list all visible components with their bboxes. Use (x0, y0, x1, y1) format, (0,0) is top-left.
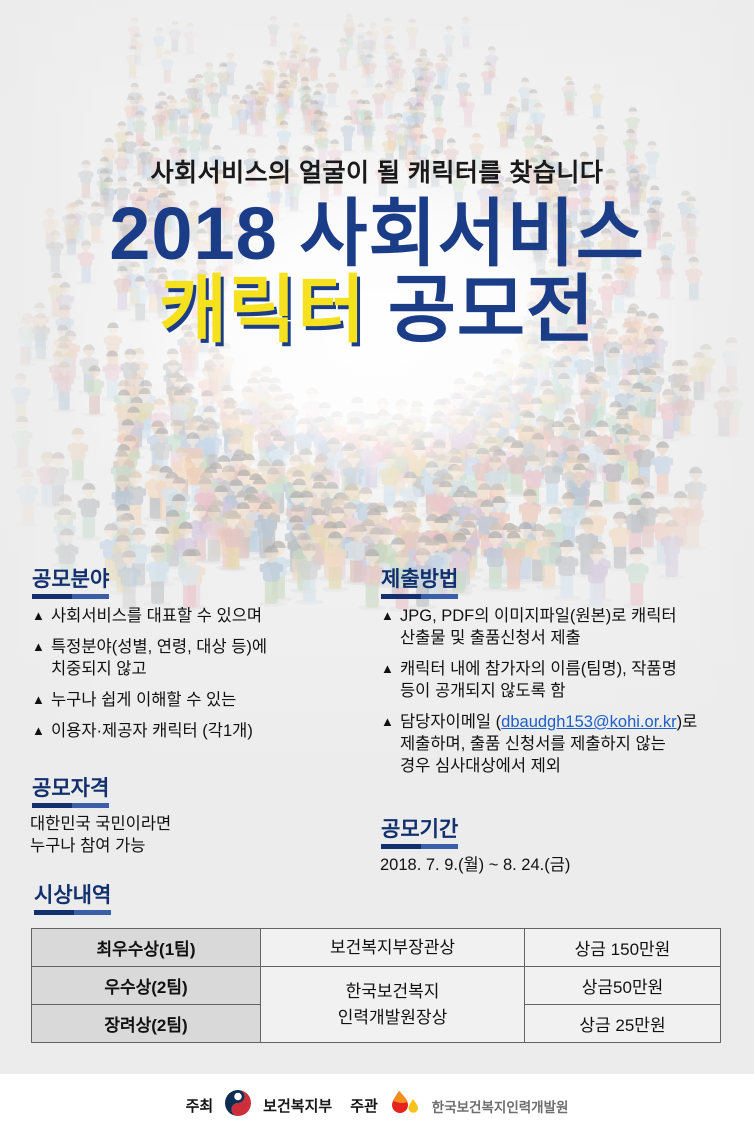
section-heading-submission-label: 제출방법 (381, 568, 458, 591)
list-item: ▲ JPG, PDF의 이미지파일(원본)로 캐릭터 산출물 및 출품신청서 제… (381, 605, 741, 649)
droplet-pair-icon (388, 1088, 422, 1123)
award-amount-cell: 상금 150만원 (525, 929, 721, 967)
list-item-label: 이용자·제공자 캐릭터 (각1개) (51, 720, 362, 742)
table-row: 최우수상(1팀) 보건복지부장관상 상금 150만원 (32, 929, 721, 967)
list-item: ▲ 누구나 쉽게 이해할 수 있는 (32, 689, 362, 711)
triangle-bullet-icon: ▲ (32, 636, 51, 658)
heading-underline (34, 910, 111, 915)
list-item-label: 사회서비스를 대표할 수 있으며 (51, 605, 362, 627)
list-item: ▲ 담당자이메일 (dbaudgh153@kohi.or.kr)로 제출하며, … (381, 711, 741, 777)
list-item: ▲ 특정분야(성별, 연령, 대상 등)에 치중되지 않고 (32, 636, 362, 680)
footer-bar: 주최 보건복지부 주관 한국보건복지인력개발원 (0, 1074, 754, 1137)
triangle-bullet-icon: ▲ (381, 605, 400, 627)
list-item-body: JPG, PDF의 이미지파일(원본)로 캐릭터 산출물 및 출품신청서 제출 (400, 605, 741, 649)
title-line-1: 2018 사회서비스 (0, 196, 754, 272)
organizer-name: 한국보건복지인력개발원 (432, 1096, 569, 1116)
section-heading-awards-label: 시상내역 (34, 884, 111, 907)
email-suffix-text: )로 (677, 713, 698, 731)
section-heading-period-label: 공모기간 (381, 818, 458, 841)
award-amount-cell: 상금 25만원 (525, 1005, 721, 1043)
section-heading-field-label: 공모분야 (32, 568, 109, 591)
triangle-bullet-icon: ▲ (381, 658, 400, 680)
heading-underline (32, 594, 109, 599)
section-heading-eligibility: 공모자격 (32, 777, 109, 808)
list-item-line: 캐릭터 내에 참가자의 이름(팀명), 작품명 (400, 658, 741, 680)
heading-underline (381, 844, 458, 849)
title-highlight-word: 캐릭터 (159, 268, 366, 351)
period-value: 2018. 7. 9.(월) ~ 8. 24.(금) (380, 854, 570, 876)
eligibility-line-1: 대한민국 국민이라면 (30, 813, 171, 835)
list-item-line: 등이 공개되지 않도록 함 (400, 680, 741, 702)
award-amount-cell: 상금50만원 (525, 967, 721, 1005)
section-heading-eligibility-label: 공모자격 (32, 777, 109, 800)
host-label: 주최 (186, 1095, 214, 1116)
list-item-body: 담당자이메일 (dbaudgh153@kohi.or.kr)로 제출하며, 출품… (400, 711, 741, 777)
tagline: 사회서비스의 얼굴이 될 캐릭터를 찾습니다 (0, 153, 754, 189)
poster-root: 사회서비스의 얼굴이 될 캐릭터를 찾습니다 2018 사회서비스 캐릭터 공모… (0, 0, 754, 1137)
triangle-bullet-icon: ▲ (32, 605, 51, 627)
section-heading-field: 공모분야 (32, 568, 109, 599)
triangle-bullet-icon: ▲ (32, 720, 51, 742)
email-prefix-text: 담당자이메일 ( (400, 713, 501, 731)
awards-table: 최우수상(1팀) 보건복지부장관상 상금 150만원 우수상(2팀) 한국보건복… (31, 928, 721, 1043)
field-bullet-list: ▲ 사회서비스를 대표할 수 있으며 ▲ 특정분야(성별, 연령, 대상 등)에… (32, 605, 362, 751)
list-item-body: 캐릭터 내에 참가자의 이름(팀명), 작품명 등이 공개되지 않도록 함 (400, 658, 741, 702)
title-rest-word: 공모전 (366, 268, 595, 351)
award-label-cell: 장려상(2팀) (32, 1005, 261, 1043)
contact-email-link[interactable]: dbaudgh153@kohi.or.kr (501, 713, 676, 731)
title-line-2: 캐릭터 공모전 (0, 272, 754, 348)
award-label-cell: 우수상(2팀) (32, 967, 261, 1005)
list-item-line: 제출하며, 출품 신청서를 제출하지 않는 (400, 733, 741, 755)
eligibility-line-2: 누구나 참여 가능 (30, 835, 145, 857)
organizer-label: 주관 (350, 1095, 378, 1116)
list-item-label: 특정분야(성별, 연령, 대상 등)에 치중되지 않고 (51, 636, 362, 680)
section-heading-awards: 시상내역 (34, 884, 111, 915)
heading-underline (32, 803, 109, 808)
table-row: 우수상(2팀) 한국보건복지 인력개발원장상 상금50만원 (32, 967, 721, 1005)
prize-name-line: 한국보건복지 (261, 979, 524, 1005)
list-item: ▲ 캐릭터 내에 참가자의 이름(팀명), 작품명 등이 공개되지 않도록 함 (381, 658, 741, 702)
taegeuk-icon (223, 1088, 253, 1123)
list-item-line: 경우 심사대상에서 제외 (400, 755, 741, 777)
list-item: ▲ 사회서비스를 대표할 수 있으며 (32, 605, 362, 627)
award-label-cell: 최우수상(1팀) (32, 929, 261, 967)
list-item-line: 산출물 및 출품신청서 제출 (400, 627, 741, 649)
heading-underline (381, 594, 458, 599)
host-name: 보건복지부 (263, 1095, 332, 1116)
title-block: 2018 사회서비스 캐릭터 공모전 (0, 196, 754, 348)
award-prize-name-cell: 한국보건복지 인력개발원장상 (261, 967, 525, 1043)
section-heading-period: 공모기간 (381, 818, 458, 849)
triangle-bullet-icon: ▲ (32, 689, 51, 711)
section-heading-submission: 제출방법 (381, 568, 458, 599)
prize-name-line: 인력개발원장상 (261, 1005, 524, 1031)
list-item: ▲ 이용자·제공자 캐릭터 (각1개) (32, 720, 362, 742)
list-item-line: 담당자이메일 (dbaudgh153@kohi.or.kr)로 (400, 711, 741, 733)
list-item-line: JPG, PDF의 이미지파일(원본)로 캐릭터 (400, 605, 741, 627)
triangle-bullet-icon: ▲ (381, 711, 400, 733)
submission-bullet-list: ▲ JPG, PDF의 이미지파일(원본)로 캐릭터 산출물 및 출품신청서 제… (381, 605, 741, 786)
award-prize-name-cell: 보건복지부장관상 (261, 929, 525, 967)
list-item-label: 누구나 쉽게 이해할 수 있는 (51, 689, 362, 711)
